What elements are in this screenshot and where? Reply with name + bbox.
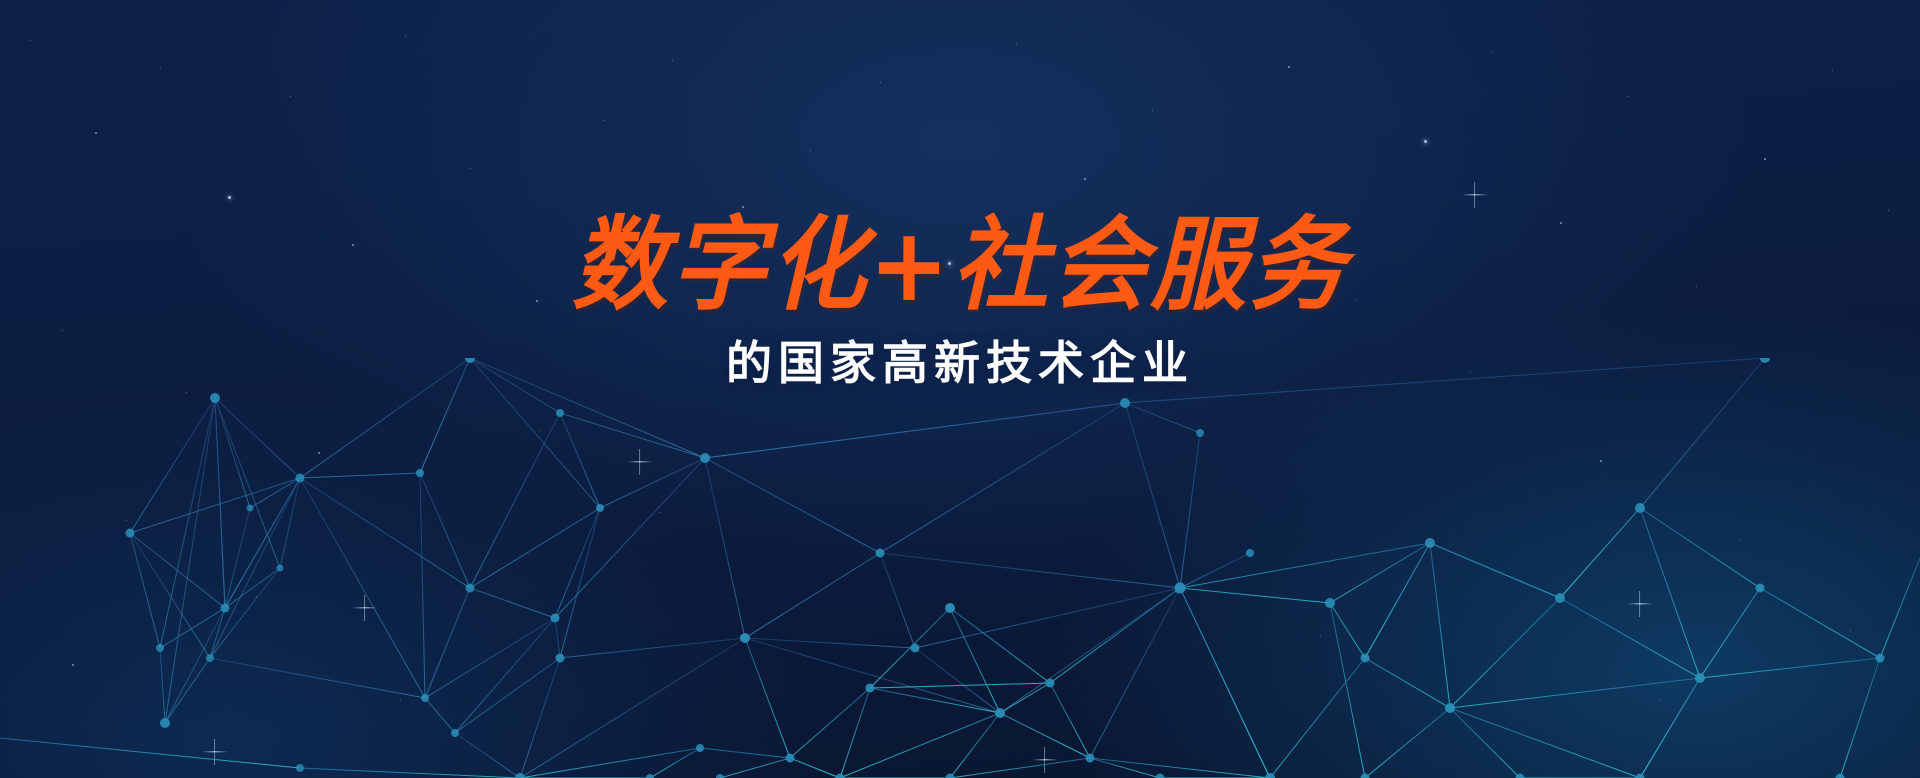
- star: [30, 40, 31, 41]
- star: [660, 512, 661, 513]
- network-mesh-graphic: [0, 358, 1920, 778]
- star: [72, 664, 74, 666]
- star: [1424, 140, 1427, 143]
- star: [400, 700, 401, 701]
- star: [1152, 110, 1153, 111]
- star: [540, 430, 541, 431]
- banner-subtitle: 的国家高新技术企业: [0, 336, 1920, 391]
- star: [256, 596, 257, 597]
- star: [1084, 178, 1086, 180]
- star: [1016, 44, 1017, 45]
- star: [1320, 636, 1321, 637]
- hero-banner: 数字化+社会服务 的国家高新技术企业: [0, 0, 1920, 778]
- star: [1850, 630, 1851, 631]
- star: [126, 520, 127, 521]
- star: [95, 132, 97, 134]
- star: [1492, 52, 1493, 53]
- star: [672, 60, 673, 61]
- star: [228, 196, 231, 199]
- star: [1764, 158, 1766, 160]
- star: [160, 68, 161, 69]
- star: [1832, 70, 1833, 71]
- star: [470, 168, 471, 169]
- star: [318, 452, 320, 454]
- star: [1740, 540, 1741, 541]
- banner-headline: 数字化+社会服务: [0, 211, 1920, 321]
- star: [604, 120, 605, 121]
- banner-text-block: 数字化+社会服务 的国家高新技术企业: [0, 214, 1920, 391]
- star: [405, 36, 406, 37]
- star: [290, 96, 291, 97]
- star: [1288, 66, 1290, 68]
- star: [810, 150, 811, 151]
- star: [186, 392, 187, 393]
- star: [1628, 96, 1629, 97]
- star: [1600, 460, 1602, 462]
- star: [880, 82, 881, 83]
- star: [1660, 700, 1661, 701]
